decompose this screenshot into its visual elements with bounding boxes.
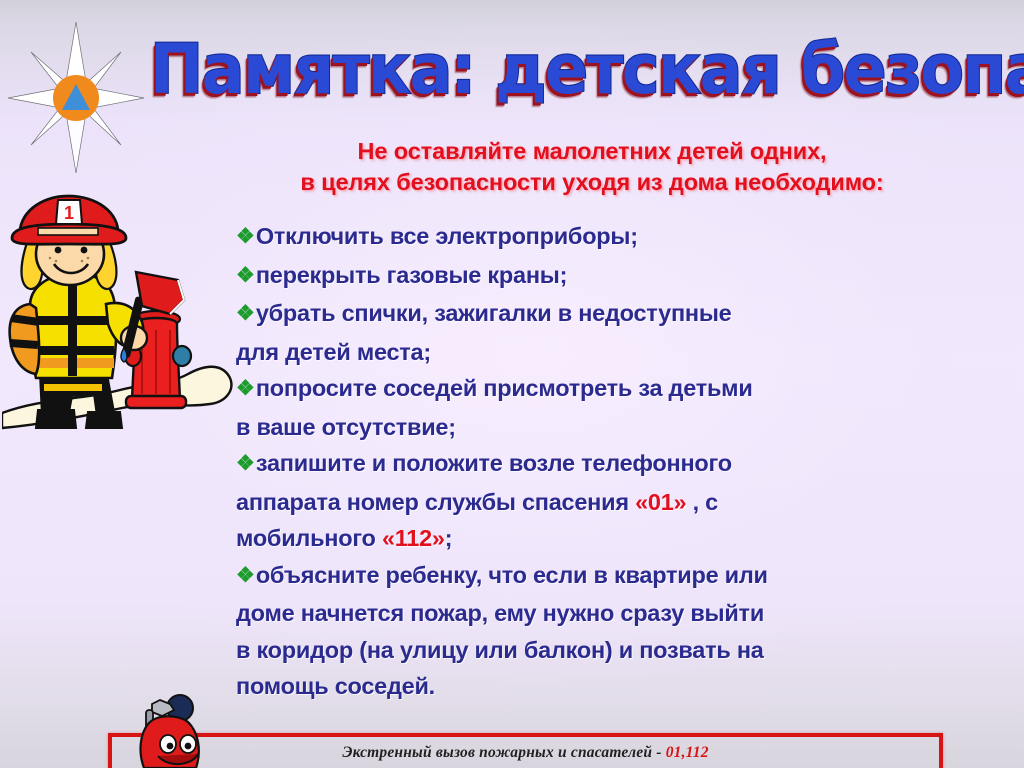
diamond-bullet-icon: ❖ [236, 564, 255, 587]
list-item-continuation: доме начнется пожар, ему нужно сразу вый… [236, 595, 936, 632]
diamond-bullet-icon: ❖ [236, 377, 255, 400]
list-item-text: мобильного [236, 525, 382, 551]
list-item-continuation: в коридор (на улицу или балкон) и позват… [236, 632, 936, 669]
list-item-text: убрать спички, зажигалки в недоступные [256, 300, 732, 326]
emergency-call-numbers: 01,112 [666, 744, 709, 761]
emergency-call-text: Экстренный вызов пожарных и спасателей -… [108, 744, 943, 762]
list-item: ❖объясните ребенку, что если в квартире … [236, 557, 936, 596]
list-item-text: помощь соседей. [236, 673, 435, 699]
diamond-bullet-icon: ❖ [236, 452, 255, 475]
diamond-bullet-icon: ❖ [236, 264, 255, 287]
title-banner: Памятка: детская безопасность [150, 22, 1024, 117]
list-item-continuation: аппарата номер службы спасения «01» , с [236, 484, 936, 521]
list-item-text: объясните ребенку, что если в квартире и… [256, 562, 768, 588]
list-item-text: запишите и положите возле телефонного [256, 450, 732, 476]
list-item-text: Отключить все электроприборы; [256, 223, 638, 249]
slide-canvas: 1 Памятка: детская безопасность Не остав… [0, 0, 1024, 768]
list-item-text: для детей места; [236, 339, 431, 365]
emergency-number-highlight: «112» [382, 525, 445, 551]
emergency-call-label: Экстренный вызов пожарных и спасателей - [342, 744, 665, 761]
list-item-text: аппарата номер службы спасения [236, 489, 635, 515]
firefighter-child-illustration: 1 [2, 188, 234, 438]
subtitle-block: Не оставляйте малолетних детей одних, в … [212, 136, 972, 198]
list-item-text: в ваше отсутствие; [236, 414, 456, 440]
list-item-text-tail: ; [445, 525, 453, 551]
emergency-number-highlight: «01» [635, 489, 686, 515]
subtitle-line-2: в целях безопасности уходя из дома необх… [212, 167, 972, 198]
list-item-text: в коридор (на улицу или балкон) и позват… [236, 637, 764, 663]
list-item-text: попросите соседей присмотреть за детьми [256, 375, 753, 401]
list-item: ❖попросите соседей присмотреть за детьми [236, 370, 936, 409]
list-item-text: доме начнется пожар, ему нужно сразу вый… [236, 600, 764, 626]
diamond-bullet-icon: ❖ [236, 302, 255, 325]
list-item-text: перекрыть газовые краны; [256, 262, 567, 288]
list-item-continuation: для детей места; [236, 334, 936, 371]
subtitle-line-1: Не оставляйте малолетних детей одних, [212, 136, 972, 167]
list-item: ❖перекрыть газовые краны; [236, 257, 936, 296]
list-item: ❖запишите и положите возле телефонного [236, 445, 936, 484]
fire-helmet: 1 [12, 196, 126, 244]
fire-extinguisher-mascot [122, 694, 208, 768]
list-item-continuation: в ваше отсутствие; [236, 409, 936, 446]
diamond-bullet-icon: ❖ [236, 225, 255, 248]
page-title: Памятка: детская безопасность [150, 30, 1024, 110]
safety-instructions-list: ❖Отключить все электроприборы;❖перекрыть… [236, 218, 936, 705]
list-item: ❖убрать спички, зажигалки в недоступные [236, 295, 936, 334]
list-item-continuation: мобильного «112»; [236, 520, 936, 557]
list-item-text-tail: , с [686, 489, 718, 515]
list-item-continuation: помощь соседей. [236, 668, 936, 705]
emercom-star-logo [6, 20, 146, 175]
list-item: ❖Отключить все электроприборы; [236, 218, 936, 257]
helmet-number: 1 [64, 203, 74, 223]
